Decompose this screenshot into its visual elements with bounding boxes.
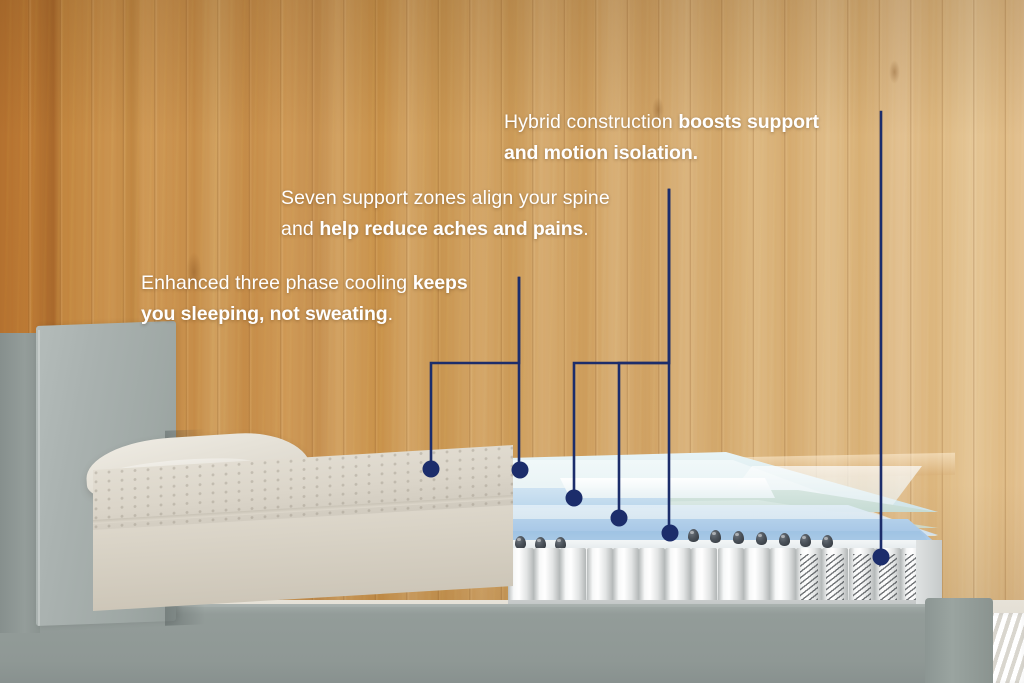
gel-bead [710,530,721,543]
callout-seven-support-zones: Seven support zones align your spine and… [281,183,610,245]
gel-bead [756,532,767,545]
callout-cooling-line1-bold: keeps [413,272,468,294]
callout-cooling-line1-normal: Enhanced three phase cooling [141,272,413,294]
callout-zones-line1: Seven support zones align your spine [281,187,610,209]
layer-recessed-tray [560,478,775,498]
callout-zones-line2-post: . [583,218,589,240]
headboard-seam [38,330,40,626]
gel-bead [733,531,744,544]
callout-hybrid-construction: Hybrid construction boosts support and m… [504,107,819,169]
callout-zones-line2-pre: and [281,218,319,240]
callout-three-phase-cooling: Enhanced three phase cooling keeps you s… [141,268,468,330]
callout-hybrid-line1-normal: Hybrid construction [504,111,678,133]
gel-bead [515,536,526,549]
bed-base-right-cap [925,598,993,683]
callout-hybrid-line1-bold: boosts support [678,111,819,133]
callout-zones-line2-bold: help reduce aches and pains [319,218,583,240]
gel-bead [779,533,790,546]
gel-bead [800,534,811,547]
gel-bead [822,535,833,548]
callout-cooling-line2-bold: you sleeping, not sweating [141,303,388,325]
scene-root: Hybrid construction boosts support and m… [0,0,1024,683]
gel-bead [688,529,699,542]
callout-cooling-line2-post: . [388,303,394,325]
headboard-side-panel [0,333,40,633]
callout-hybrid-line2-bold: and motion isolation. [504,142,698,164]
